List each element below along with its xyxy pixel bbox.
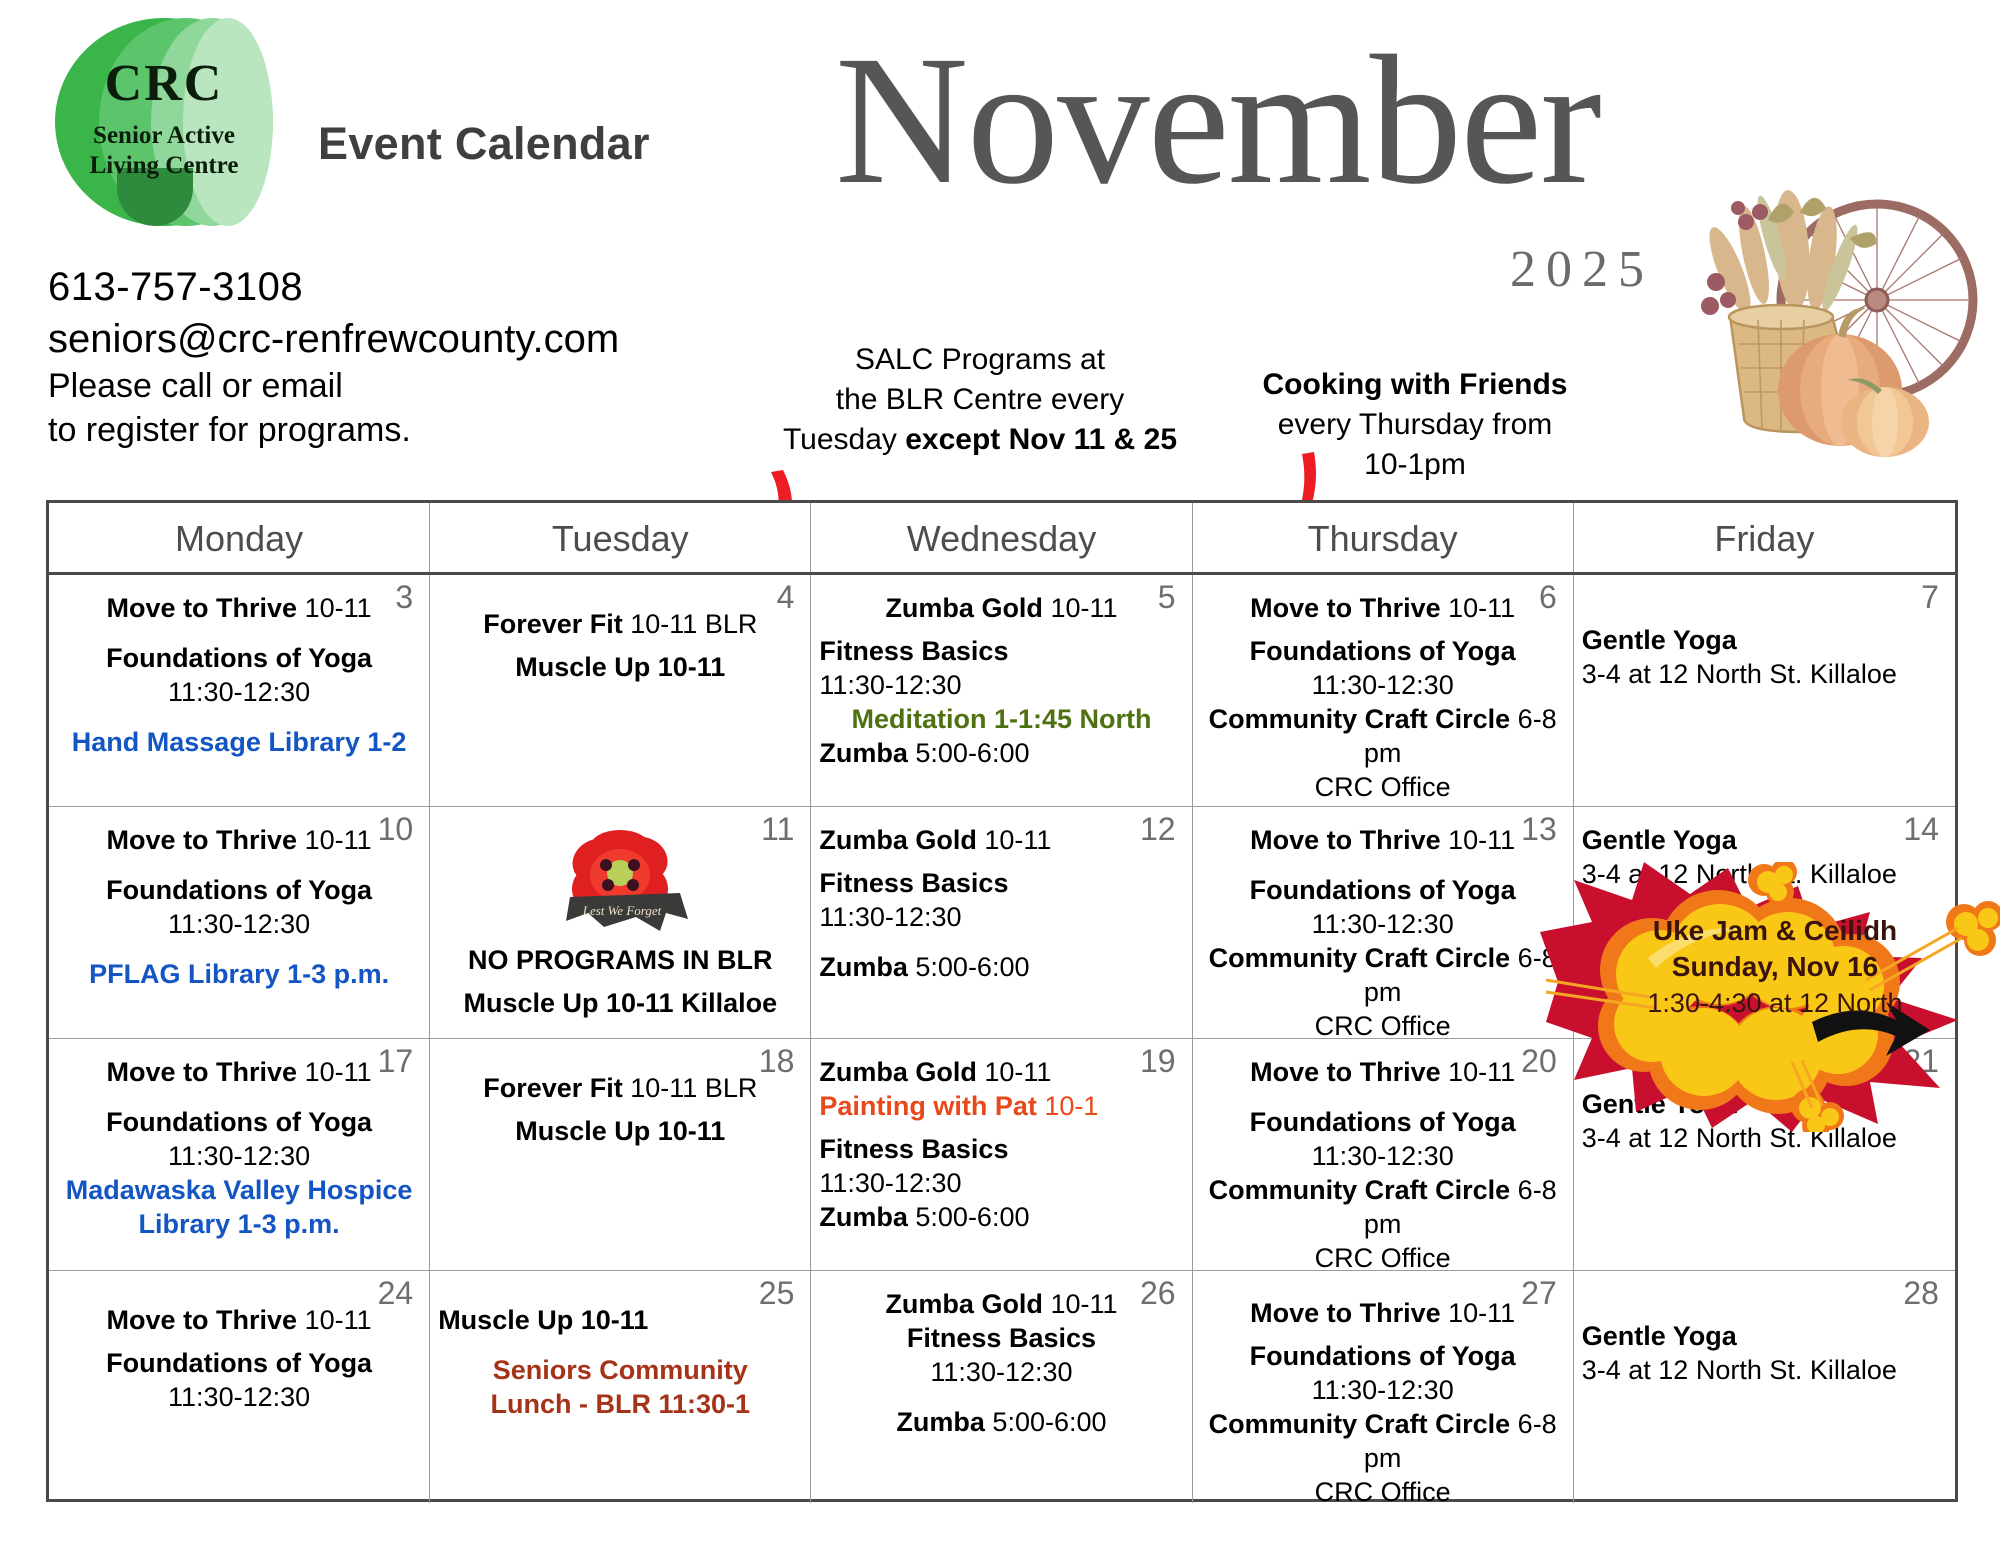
event-entry[interactable]: Fitness Basics (819, 1321, 1183, 1355)
event-entry[interactable]: Muscle Up 10-11 (438, 1114, 802, 1148)
event-time: 10-11 (977, 1057, 1052, 1087)
event-time: 11:30-12:30 (168, 1382, 310, 1412)
day-events: Zumba Gold 10-11Fitness Basics 11:30-12:… (819, 581, 1183, 770)
event-name: Foundations of Yoga (106, 875, 372, 905)
day-events: Move to Thrive 10-11Foundations of Yoga1… (57, 813, 421, 991)
event-spacer (1582, 607, 1947, 623)
day-number: 27 (1521, 1275, 1557, 1312)
event-entry[interactable]: 11:30-12:30 (1201, 1373, 1565, 1407)
event-entry[interactable]: 11:30-12:30 (1201, 1139, 1565, 1173)
event-time: 11:30-12:30 (1312, 909, 1454, 939)
event-entry[interactable]: Move to Thrive 10-11 (1201, 1055, 1565, 1089)
autumn-basket-pumpkins-wheel-decoration (1672, 160, 1992, 470)
event-entry[interactable]: Community Craft Circle 6-8 pm (1201, 702, 1565, 770)
promo-line1: Uke Jam & Ceilidh (1625, 913, 1925, 949)
event-spacer (1201, 857, 1565, 873)
day-number: 14 (1903, 811, 1939, 848)
event-spacer (819, 1389, 1183, 1405)
event-name: Madawaska Valley Hospice (66, 1175, 413, 1205)
event-entry[interactable]: Gentle Yoga (1582, 1319, 1947, 1353)
calendar-day-cell-10[interactable]: 10Move to Thrive 10-11Foundations of Yog… (49, 807, 430, 1038)
day-number: 11 (761, 811, 794, 848)
event-entry[interactable]: CRC Office (1201, 1475, 1565, 1509)
event-name: Community Craft Circle (1209, 704, 1511, 734)
event-entry[interactable]: Fitness Basics (819, 866, 1183, 900)
event-time: CRC Office (1315, 772, 1451, 802)
event-spacer (57, 1337, 421, 1346)
event-name: Move to Thrive (1250, 593, 1441, 623)
event-entry[interactable]: Hand Massage Library 1-2 (57, 725, 421, 759)
day-number: 5 (1158, 579, 1176, 616)
event-entry[interactable]: Seniors Community (438, 1353, 802, 1387)
phone-number: 613-757-3108 (48, 262, 619, 313)
weekday-header-tuesday: Tuesday (430, 503, 811, 572)
event-time: CRC Office (1315, 1243, 1451, 1273)
logo-line1-text: Senior Active (55, 122, 273, 149)
event-spacer (438, 1105, 802, 1114)
event-time: 5:00-6:00 (985, 1407, 1107, 1437)
event-spacer (819, 1123, 1183, 1132)
event-name: Move to Thrive (1250, 825, 1441, 855)
event-name: Zumba (819, 1202, 908, 1232)
event-time: CRC Office (1315, 1011, 1451, 1041)
event-name: Fitness Basics (819, 868, 1008, 898)
event-entry[interactable]: Move to Thrive 10-11 (57, 823, 421, 857)
calendar-day-cell-7[interactable]: 7Gentle Yoga3-4 at 12 North St. Killaloe (1574, 575, 1955, 806)
event-entry[interactable]: 11:30-12:30 (819, 1166, 1183, 1200)
promo-line2: Sunday, Nov 16 (1625, 949, 1925, 985)
event-name: Move to Thrive (1250, 1298, 1441, 1328)
event-time: 11:30-12:30 (930, 1357, 1072, 1387)
event-entry[interactable]: Foundations of Yoga (1201, 1105, 1565, 1139)
logo-crc-text: CRC (55, 58, 273, 110)
event-name: Community Craft Circle (1209, 1409, 1511, 1439)
event-entry[interactable]: Zumba Gold 10-11 (819, 1287, 1183, 1321)
event-name: Muscle Up 10-11 (438, 1305, 648, 1335)
event-name: Foundations of Yoga (1250, 875, 1516, 905)
event-entry[interactable]: CRC Office (1201, 770, 1565, 804)
event-name: Lunch - BLR 11:30-1 (491, 1389, 751, 1419)
event-name: Zumba Gold (819, 1057, 977, 1087)
cooking-note-title: Cooking with Friends (1245, 365, 1585, 405)
event-entry[interactable]: Community Craft Circle 6-8 pm (1201, 1407, 1565, 1475)
calendar-day-cell-18[interactable]: 18Forever Fit 10-11 BLRMuscle Up 10-11 (430, 1039, 811, 1270)
event-entry[interactable]: 11:30-12:30 (57, 1139, 421, 1173)
event-name: Foundations of Yoga (1250, 636, 1516, 666)
event-name: Foundations of Yoga (106, 1107, 372, 1137)
salc-note-line1: SALC Programs at (770, 340, 1190, 380)
event-name: Gentle Yoga (1582, 625, 1737, 655)
event-entry[interactable]: Fitness Basics (819, 634, 1183, 668)
event-spacer (1201, 1089, 1565, 1105)
event-entry[interactable]: Gentle Yoga (1582, 823, 1947, 857)
event-time: 5:00-6:00 (908, 1202, 1030, 1232)
event-time: 10-11 (977, 825, 1052, 855)
event-entry[interactable]: 11:30-12:30 (1201, 907, 1565, 941)
event-entry[interactable]: Muscle Up 10-11 (438, 1303, 802, 1337)
event-name: Forever Fit (483, 1073, 623, 1103)
day-events: Lest We ForgetNO PROGRAMS IN BLRMuscle U… (438, 813, 802, 1020)
event-spacer (57, 941, 421, 957)
day-events: Move to Thrive 10-11Foundations of Yoga1… (1201, 813, 1565, 1043)
event-time: 10-11 (1441, 593, 1516, 623)
event-name: Muscle Up 10-11 Killaloe (463, 988, 777, 1018)
event-name: Fitness Basics (819, 1134, 1008, 1164)
event-entry[interactable]: CRC Office (1201, 1241, 1565, 1275)
event-spacer (1582, 1287, 1947, 1303)
event-entry[interactable]: Meditation 1-1:45 North (819, 702, 1183, 736)
event-entry[interactable]: Painting with Pat 10-1 (819, 1089, 1183, 1123)
event-spacer (819, 857, 1183, 866)
day-number: 13 (1521, 811, 1557, 848)
event-time: 11:30-12:30 (1312, 1375, 1454, 1405)
event-time: 11:30-12:30 (819, 1168, 961, 1198)
salc-note-line2: the BLR Centre every (770, 380, 1190, 420)
event-entry[interactable]: Move to Thrive 10-11 (1201, 823, 1565, 857)
event-entry[interactable]: Move to Thrive 10-11 (1201, 1296, 1565, 1330)
logo-line2-text: Living Centre (55, 152, 273, 179)
register-note-line1: Please call or email (48, 365, 619, 409)
event-name: Fitness Basics (819, 636, 1008, 666)
event-time: 10-11 (1441, 825, 1516, 855)
salc-programs-note: SALC Programs at the BLR Centre every Tu… (770, 340, 1190, 460)
event-name: Move to Thrive (107, 1305, 298, 1335)
event-time: 11:30-12:30 (819, 902, 961, 932)
event-entry[interactable]: 11:30-12:30 (819, 668, 1183, 702)
event-name: Zumba (819, 952, 908, 982)
event-spacer (1582, 591, 1947, 607)
day-events: Zumba Gold 10-11Painting with Pat 10-1Fi… (819, 1045, 1183, 1234)
event-spacer (57, 625, 421, 641)
event-name: Gentle Yoga (1582, 1321, 1737, 1351)
day-events: Gentle Yoga3-4 at 12 North St. Killaloe (1582, 581, 1947, 691)
calendar-day-cell-13[interactable]: 13Move to Thrive 10-11Foundations of Yog… (1193, 807, 1574, 1038)
event-time: 10-11 (297, 1057, 372, 1087)
event-entry[interactable]: 11:30-12:30 (819, 1355, 1183, 1389)
event-name: Painting with Pat (819, 1091, 1037, 1121)
event-entry[interactable]: 11:30-12:30 (1201, 668, 1565, 702)
day-events: Gentle Yoga3-4 at 12 North St. Killaloe (1582, 1277, 1947, 1387)
event-time: 5:00-6:00 (908, 952, 1030, 982)
promo-line3: 1:30-4:30 at 12 North (1625, 986, 1925, 1021)
event-name: Zumba (819, 738, 908, 768)
calendar-page: CRC Senior Active Living Centre Event Ca… (0, 0, 2000, 1545)
event-name: Foundations of Yoga (106, 643, 372, 673)
event-entry[interactable]: Foundations of Yoga (1201, 873, 1565, 907)
event-name: Foundations of Yoga (1250, 1107, 1516, 1137)
calendar-day-cell-26[interactable]: 26Zumba Gold 10-11Fitness Basics11:30-12… (811, 1271, 1192, 1503)
event-name: Fitness Basics (907, 1323, 1096, 1353)
event-entry[interactable]: Zumba 5:00-6:00 (819, 1200, 1183, 1234)
event-name: Zumba Gold (885, 1289, 1043, 1319)
day-number: 4 (777, 579, 795, 616)
salc-note-line3: Tuesday except Nov 11 & 25 (770, 420, 1190, 460)
event-time: 5:00-6:00 (908, 738, 1030, 768)
event-time: 10-11 BLR (623, 609, 758, 639)
calendar-week-row: 24Move to Thrive 10-11Foundations of Yog… (49, 1271, 1955, 1503)
event-time: 10-1 (1037, 1091, 1099, 1121)
event-time: 11:30-12:30 (168, 909, 310, 939)
event-entry[interactable]: Zumba 5:00-6:00 (819, 1405, 1183, 1439)
event-spacer (1201, 1330, 1565, 1339)
event-entry[interactable]: Community Craft Circle 6-8 pm (1201, 1173, 1565, 1241)
event-entry[interactable]: Library 1-3 p.m. (57, 1207, 421, 1241)
day-number: 28 (1903, 1275, 1939, 1312)
calendar-day-cell-6[interactable]: 6Move to Thrive 10-11Foundations of Yoga… (1193, 575, 1574, 806)
day-events: Move to Thrive 10-11Foundations of Yoga1… (1201, 1277, 1565, 1509)
day-events: Move to Thrive 10-11Foundations of Yoga1… (57, 1045, 421, 1241)
event-entry[interactable]: Zumba Gold 10-11 (819, 591, 1183, 625)
day-number: 10 (378, 811, 414, 848)
day-events: Muscle Up 10-11Seniors CommunityLunch - … (438, 1277, 802, 1421)
event-entry[interactable]: Lunch - BLR 11:30-1 (438, 1387, 802, 1421)
event-entry[interactable]: 11:30-12:30 (57, 1380, 421, 1414)
salc-note-line3-plain: Tuesday (783, 423, 905, 456)
event-entry[interactable]: Foundations of Yoga (57, 1346, 421, 1380)
event-time: 11:30-12:30 (1312, 670, 1454, 700)
calendar-day-cell-17[interactable]: 17Move to Thrive 10-11Foundations of Yog… (49, 1039, 430, 1270)
event-name: Library 1-3 p.m. (139, 1209, 340, 1239)
event-spacer (438, 1287, 802, 1303)
event-name: Community Craft Circle (1209, 943, 1511, 973)
event-name: Seniors Community (493, 1355, 748, 1385)
event-name: Move to Thrive (107, 593, 298, 623)
event-entry[interactable]: 11:30-12:30 (819, 900, 1183, 934)
event-name: Foundations of Yoga (1250, 1341, 1516, 1371)
event-time: 10-11 (1441, 1057, 1516, 1087)
event-spacer (438, 591, 802, 607)
event-entry[interactable]: Foundations of Yoga (57, 641, 421, 675)
day-events: Move to Thrive 10-11Foundations of Yoga1… (57, 581, 421, 759)
poppy-image: Lest We Forget (540, 823, 700, 941)
calendar-day-cell-4[interactable]: 4Forever Fit 10-11 BLRMuscle Up 10-11 (430, 575, 811, 806)
event-entry[interactable]: Move to Thrive 10-11 (57, 1055, 421, 1089)
remembrance-poppy-icon: Lest We Forget (540, 823, 700, 941)
event-entry[interactable]: PFLAG Library 1-3 p.m. (57, 957, 421, 991)
event-entry[interactable]: 3-4 at 12 North St. Killaloe (1582, 1353, 1947, 1387)
event-time: 10-11 (1043, 593, 1118, 623)
day-events: Forever Fit 10-11 BLRMuscle Up 10-11 (438, 1045, 802, 1148)
uke-jam-promo-text: Uke Jam & Ceilidh Sunday, Nov 16 1:30-4:… (1625, 913, 1925, 1021)
event-entry[interactable]: Foundations of Yoga (1201, 634, 1565, 668)
event-name: Hand Massage Library 1-2 (72, 727, 407, 757)
event-spacer (438, 977, 802, 986)
cooking-note-line2: every Thursday from (1245, 405, 1585, 445)
year-label: 2025 (1510, 240, 1654, 299)
day-events: Move to Thrive 10-11Foundations of Yoga1… (1201, 581, 1565, 804)
event-spacer (57, 1287, 421, 1303)
event-time: 10-11 (1441, 1298, 1516, 1328)
day-number: 18 (759, 1043, 795, 1080)
event-entry[interactable]: Gentle Yoga (1582, 623, 1947, 657)
event-entry[interactable]: 3-4 at 12 North St. Killaloe (1582, 657, 1947, 691)
event-time: 10-11 (297, 593, 372, 623)
calendar-day-cell-28[interactable]: 28Gentle Yoga3-4 at 12 North St. Killalo… (1574, 1271, 1955, 1503)
day-number: 7 (1921, 579, 1939, 616)
event-time: 11:30-12:30 (819, 670, 961, 700)
day-number: 25 (759, 1275, 795, 1312)
calendar-day-cell-11[interactable]: 11Lest We ForgetNO PROGRAMS IN BLRMuscle… (430, 807, 811, 1038)
event-entry[interactable]: NO PROGRAMS IN BLR (438, 943, 802, 977)
event-entry[interactable]: Foundations of Yoga (57, 1105, 421, 1139)
event-entry[interactable]: Forever Fit 10-11 BLR (438, 1071, 802, 1105)
event-name: Meditation 1-1:45 North (851, 704, 1151, 734)
svg-text:Lest We Forget: Lest We Forget (582, 903, 662, 918)
contact-block: 613-757-3108 seniors@crc-renfrewcounty.c… (48, 262, 619, 452)
event-entry[interactable]: Fitness Basics (819, 1132, 1183, 1166)
event-entry[interactable]: Zumba Gold 10-11 (819, 823, 1183, 857)
event-time: 3-4 at 12 North St. Killaloe (1582, 659, 1897, 689)
event-calendar-title: Event Calendar (318, 118, 650, 170)
day-number: 6 (1539, 579, 1557, 616)
event-spacer (1582, 1303, 1947, 1319)
calendar-day-cell-20[interactable]: 20Move to Thrive 10-11Foundations of Yog… (1193, 1039, 1574, 1270)
event-name: Move to Thrive (107, 825, 298, 855)
event-name: Muscle Up 10-11 (515, 652, 725, 682)
event-spacer (1201, 1287, 1565, 1296)
calendar-day-cell-27[interactable]: 27Move to Thrive 10-11Foundations of Yog… (1193, 1271, 1574, 1503)
calendar-day-cell-5[interactable]: 5Zumba Gold 10-11Fitness Basics 11:30-12… (811, 575, 1192, 806)
event-time: 10-11 (297, 825, 372, 855)
day-number: 19 (1140, 1043, 1176, 1080)
event-entry[interactable]: Muscle Up 10-11 Killaloe (438, 986, 802, 1020)
event-name: Zumba Gold (885, 593, 1043, 623)
event-time: 3-4 at 12 North St. Killaloe (1582, 1355, 1897, 1385)
event-entry[interactable]: Forever Fit 10-11 BLR (438, 607, 802, 641)
event-entry[interactable]: 11:30-12:30 (57, 907, 421, 941)
event-spacer (1201, 625, 1565, 634)
event-entry[interactable]: 11:30-12:30 (57, 675, 421, 709)
event-entry[interactable]: Zumba 5:00-6:00 (819, 950, 1183, 984)
calendar-day-cell-25[interactable]: 25Muscle Up 10-11Seniors CommunityLunch … (430, 1271, 811, 1503)
calendar-week-row: 3Move to Thrive 10-11Foundations of Yoga… (49, 575, 1955, 807)
event-entry[interactable]: Move to Thrive 10-11 (57, 591, 421, 625)
weekday-header-friday: Friday (1574, 503, 1955, 572)
day-events: Forever Fit 10-11 BLRMuscle Up 10-11 (438, 581, 802, 684)
weekday-header-monday: Monday (49, 503, 430, 572)
calendar-day-cell-24[interactable]: 24Move to Thrive 10-11Foundations of Yog… (49, 1271, 430, 1503)
calendar-day-cell-12[interactable]: 12Zumba Gold 10-11Fitness Basics 11:30-1… (811, 807, 1192, 1038)
event-entry[interactable]: Zumba Gold 10-11 (819, 1055, 1183, 1089)
event-entry[interactable]: Community Craft Circle 6-8 pm (1201, 941, 1565, 1009)
month-title: November (835, 28, 1600, 213)
day-events: Zumba Gold 10-11Fitness Basics11:30-12:3… (819, 1277, 1183, 1439)
event-spacer (438, 1055, 802, 1071)
event-entry[interactable]: Madawaska Valley Hospice (57, 1173, 421, 1207)
event-entry[interactable]: Zumba 5:00-6:00 (819, 736, 1183, 770)
salc-note-line3-bold: except Nov 11 & 25 (905, 423, 1177, 456)
event-name: Move to Thrive (107, 1057, 298, 1087)
day-events: Zumba Gold 10-11Fitness Basics 11:30-12:… (819, 813, 1183, 984)
day-number: 17 (378, 1043, 414, 1080)
event-entry[interactable]: CRC Office (1201, 1009, 1565, 1043)
weekday-header-thursday: Thursday (1193, 503, 1574, 572)
event-name: Muscle Up 10-11 (515, 1116, 725, 1146)
day-number: 24 (378, 1275, 414, 1312)
event-name: Zumba Gold (819, 825, 977, 855)
weekday-header-wednesday: Wednesday (811, 503, 1192, 572)
event-time: 11:30-12:30 (168, 677, 310, 707)
day-number: 3 (395, 579, 413, 616)
event-name: NO PROGRAMS IN BLR (468, 945, 773, 975)
day-number: 26 (1140, 1275, 1176, 1312)
event-entry[interactable]: Foundations of Yoga (1201, 1339, 1565, 1373)
weekday-header-row: MondayTuesdayWednesdayThursdayFriday (49, 503, 1955, 575)
event-spacer (57, 709, 421, 725)
event-entry[interactable]: Move to Thrive 10-11 (1201, 591, 1565, 625)
day-number: 12 (1140, 811, 1176, 848)
event-spacer (57, 1089, 421, 1105)
event-spacer (438, 641, 802, 650)
event-name: Move to Thrive (1250, 1057, 1441, 1087)
event-time: CRC Office (1315, 1477, 1451, 1507)
event-name: Forever Fit (483, 609, 623, 639)
calendar-day-cell-3[interactable]: 3Move to Thrive 10-11Foundations of Yoga… (49, 575, 430, 806)
event-time: 11:30-12:30 (1312, 1141, 1454, 1171)
event-name: Foundations of Yoga (106, 1348, 372, 1378)
day-events: Move to Thrive 10-11Foundations of Yoga1… (57, 1277, 421, 1414)
event-entry[interactable]: Foundations of Yoga (57, 873, 421, 907)
event-time: 10-11 (1043, 1289, 1118, 1319)
event-time: 10-11 (297, 1305, 372, 1335)
event-name: Community Craft Circle (1209, 1175, 1511, 1205)
event-spacer (819, 934, 1183, 950)
register-note-line2: to register for programs. (48, 409, 619, 453)
event-time: 11:30-12:30 (168, 1141, 310, 1171)
event-entry[interactable]: Muscle Up 10-11 (438, 650, 802, 684)
crc-logo: CRC Senior Active Living Centre (55, 18, 280, 228)
event-name: Gentle Yoga (1582, 825, 1737, 855)
event-name: PFLAG Library 1-3 p.m. (89, 959, 389, 989)
calendar-day-cell-19[interactable]: 19Zumba Gold 10-11Painting with Pat 10-1… (811, 1039, 1192, 1270)
day-events: Move to Thrive 10-11Foundations of Yoga1… (1201, 1045, 1565, 1275)
email-address: seniors@crc-renfrewcounty.com (48, 313, 619, 365)
event-entry[interactable]: Move to Thrive 10-11 (57, 1303, 421, 1337)
event-spacer (438, 1337, 802, 1353)
event-time: 10-11 BLR (623, 1073, 758, 1103)
event-spacer (57, 857, 421, 873)
event-spacer (819, 625, 1183, 634)
event-name: Zumba (896, 1407, 985, 1437)
